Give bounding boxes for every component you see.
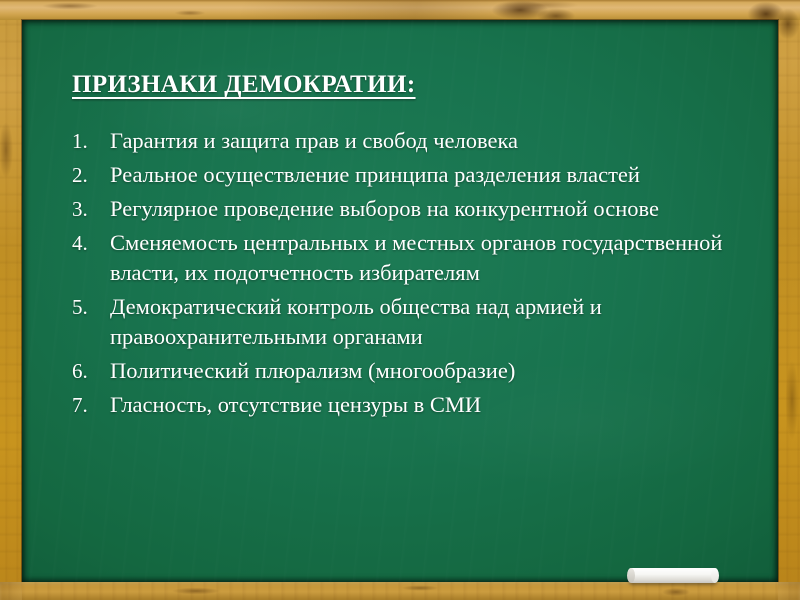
frame-top-plank — [0, 0, 800, 20]
list-item-number: 4. — [72, 228, 102, 258]
list-item: 6. Политический плюрализм (многообразие) — [72, 356, 752, 386]
list-item: 3. Регулярное проведение выборов на конк… — [72, 194, 752, 224]
chalkboard: ПРИЗНАКИ ДЕМОКРАТИИ: 1. Гарантия и защит… — [22, 20, 778, 582]
list-item: 2. Реальное осуществление принципа разде… — [72, 160, 752, 190]
list-item-text: Демократический контроль общества над ар… — [110, 292, 752, 352]
list-item-number: 6. — [72, 356, 102, 386]
page-title: ПРИЗНАКИ ДЕМОКРАТИИ: — [72, 70, 752, 100]
list-item-number: 3. — [72, 194, 102, 224]
list-item-number: 5. — [72, 292, 102, 322]
slide-root: ПРИЗНАКИ ДЕМОКРАТИИ: 1. Гарантия и защит… — [0, 0, 800, 600]
criteria-list: 1. Гарантия и защита прав и свобод челов… — [72, 126, 752, 420]
list-item-number: 2. — [72, 160, 102, 190]
list-item: 5. Демократический контроль общества над… — [72, 292, 752, 352]
chalk-stick-icon — [628, 568, 718, 583]
list-item: 1. Гарантия и защита прав и свобод челов… — [72, 126, 752, 156]
list-item-text: Регулярное проведение выборов на конкуре… — [110, 194, 752, 224]
list-item-text: Гарантия и защита прав и свобод человека — [110, 126, 752, 156]
list-item: 4. Сменяемость центральных и местных орг… — [72, 228, 752, 288]
list-item-text: Реальное осуществление принципа разделен… — [110, 160, 752, 190]
list-item-number: 7. — [72, 390, 102, 420]
list-item-text: Гласность, отсутствие цензуры в СМИ — [110, 390, 752, 420]
ledge-corner-right — [778, 582, 800, 600]
chalk-ledge — [0, 582, 800, 600]
ledge-corner-left — [0, 582, 22, 600]
slide-content: ПРИЗНАКИ ДЕМОКРАТИИ: 1. Гарантия и защит… — [72, 70, 752, 424]
list-item-text: Политический плюрализм (многообразие) — [110, 356, 752, 386]
list-item: 7. Гласность, отсутствие цензуры в СМИ — [72, 390, 752, 420]
list-item-number: 1. — [72, 126, 102, 156]
list-item-text: Сменяемость центральных и местных органо… — [110, 228, 752, 288]
